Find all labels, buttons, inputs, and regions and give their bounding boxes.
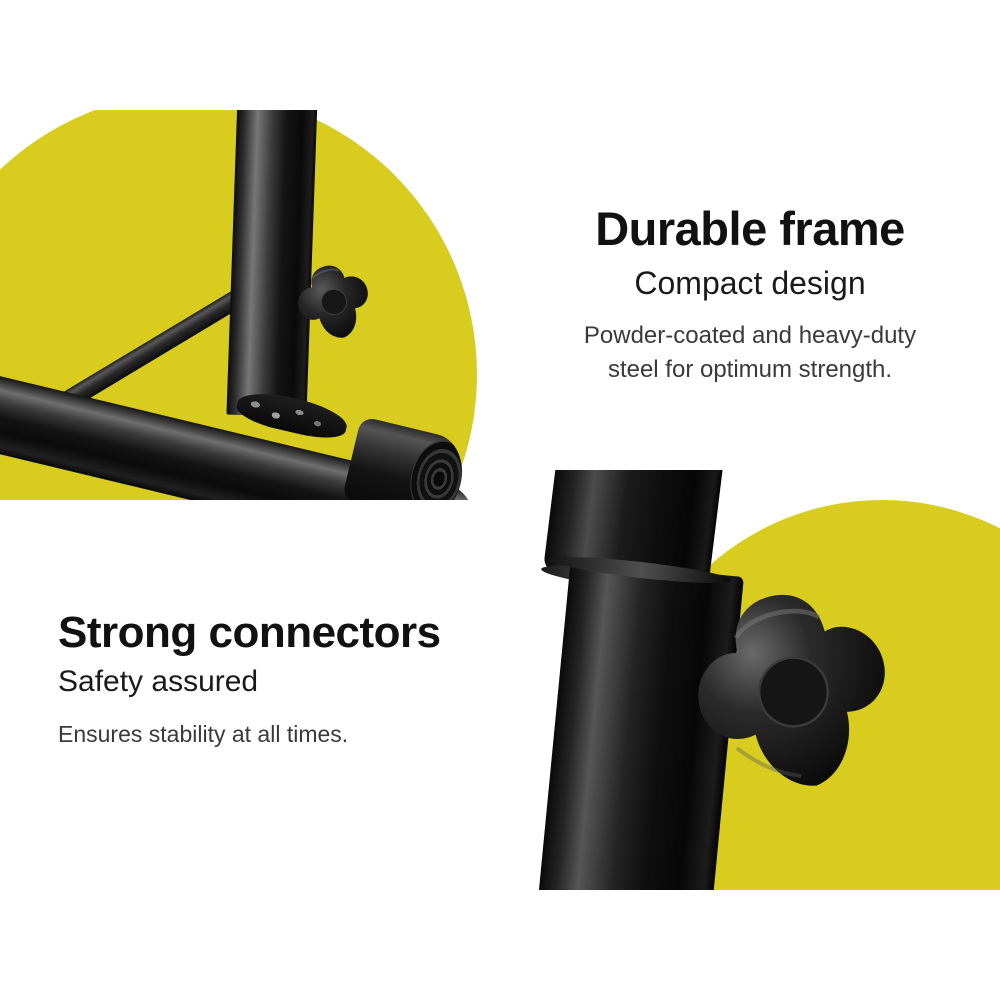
feature-body-line-1: Powder-coated and heavy-duty [520,319,980,353]
product-photo-top-left [0,110,500,500]
product-photo-bottom-right [500,470,1000,890]
feature-body: Powder-coated and heavy-duty steel for o… [520,319,980,387]
feature-subhead: Compact design [520,263,980,303]
feature-body-line-2: steel for optimum strength. [520,353,980,387]
feature-body-line-1: Ensures stability at all times. [58,718,488,751]
feature-body: Ensures stability at all times. [58,718,488,751]
feature-headline: Strong connectors [58,610,488,656]
feature-block-durable-frame: Durable frame Compact design Powder-coat… [520,205,980,387]
feature-headline: Durable frame [520,205,980,254]
product-feature-canvas: Durable frame Compact design Powder-coat… [0,0,1000,1000]
feature-subhead: Safety assured [58,663,488,701]
feature-block-strong-connectors: Strong connectors Safety assured Ensures… [58,610,488,751]
